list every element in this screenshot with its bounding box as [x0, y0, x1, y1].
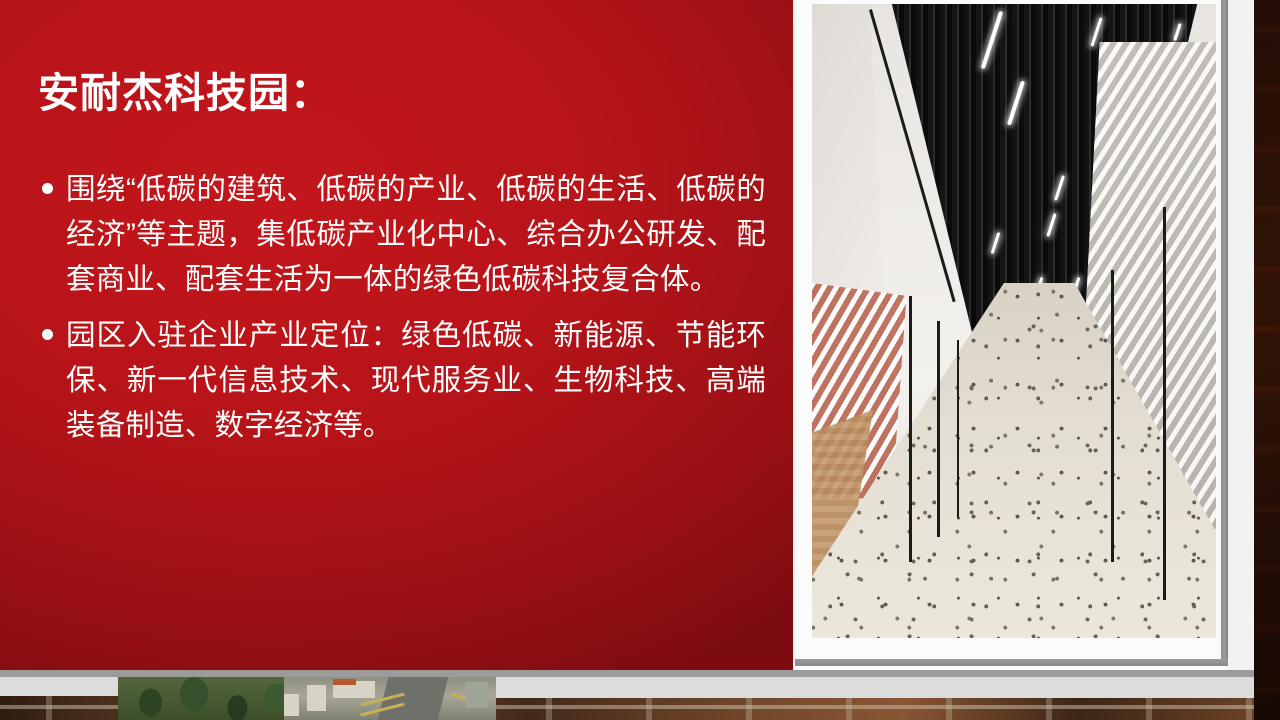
aerial-structure — [466, 682, 489, 708]
photo-frame-right-edge — [1221, 0, 1228, 666]
list-item-text: 园区入驻企业产业定位：绿色低碳、新能源、节能环保、新一代信息技术、现代服务业、生… — [66, 319, 766, 442]
list-item: 围绕“低碳的建筑、低碳的产业、低碳的生活、低碳的经济”等主题，集低碳产业化中心、… — [36, 168, 766, 302]
bottom-left-spacer — [0, 677, 118, 696]
office-corridor-photo — [812, 4, 1216, 638]
glass-mullion — [1163, 207, 1166, 600]
aerial-structure — [284, 694, 299, 716]
bullet-list: 围绕“低碳的建筑、低碳的产业、低碳的生活、低碳的经济”等主题，集低碳产业化中心、… — [36, 168, 766, 461]
photo-frame-bottom-edge — [795, 659, 1228, 666]
aerial-structure — [307, 685, 326, 712]
page-title: 安耐杰科技园： — [38, 70, 758, 117]
red-content-panel: 安耐杰科技园： 围绕“低碳的建筑、低碳的产业、低碳的生活、低碳的经济”等主题，集… — [0, 0, 793, 670]
list-item: 园区入驻企业产业定位：绿色低碳、新能源、节能环保、新一代信息技术、现代服务业、生… — [36, 314, 766, 448]
list-item-text: 围绕“低碳的建筑、低碳的产业、低碳的生活、低碳的经济”等主题，集低碳产业化中心、… — [66, 173, 766, 296]
presentation-slide: 安耐杰科技园： 围绕“低碳的建筑、低碳的产业、低碳的生活、低碳的经济”等主题，集… — [0, 0, 1280, 720]
glass-mullion — [937, 321, 940, 537]
glass-mullion — [909, 296, 912, 562]
aerial-trees — [118, 677, 299, 720]
glass-mullion — [1111, 270, 1114, 562]
bottom-right-spacer — [496, 677, 1254, 698]
bottom-divider-line — [0, 670, 1254, 677]
bullet-dot-icon — [42, 183, 53, 194]
bullet-dot-icon — [42, 329, 53, 340]
aerial-orange-roof — [333, 679, 356, 685]
glass-mullion — [957, 340, 959, 518]
aerial-construction-site-photo — [118, 677, 496, 720]
